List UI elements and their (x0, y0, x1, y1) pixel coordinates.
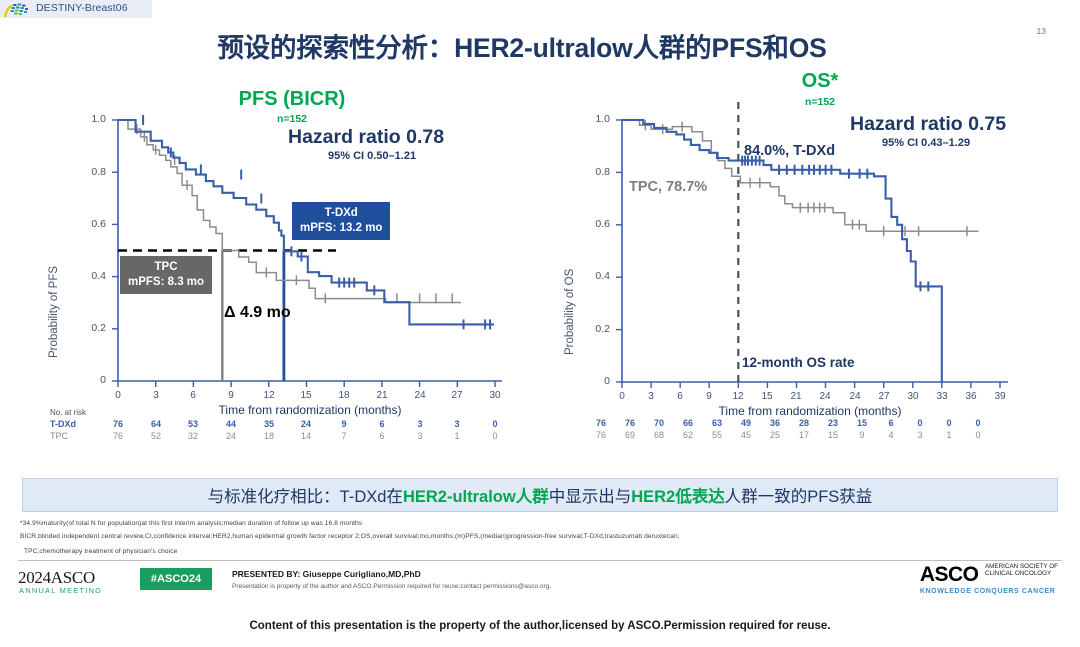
os-risk-tpc-30: 4 (880, 430, 902, 440)
os-ytick-10: 1.0 (580, 113, 610, 125)
pfs-risk-tdxd-21: 6 (371, 419, 393, 429)
asco-society-line2: CLINICAL ONCOLOGY (985, 570, 1051, 577)
os-risk-tpc-18: 25 (764, 430, 786, 440)
os-risk-tpc-3: 69 (619, 430, 641, 440)
os-risk-tdxd-0: 76 (590, 418, 612, 428)
os-risk-tdxd-9: 66 (677, 418, 699, 428)
os-risk-tdxd-36: 0 (938, 418, 960, 428)
os-risk-tpc-12: 55 (706, 430, 728, 440)
pfs-ytick-02: 0.2 (76, 322, 106, 334)
pfs-risk-tpc-30: 0 (484, 431, 506, 441)
asco-society-line1: AMERICAN SOCIETY OF (985, 563, 1058, 570)
os-xtick-36: 36 (959, 391, 983, 402)
footnote-tpc: TPC,chemotherapy treatment of physician'… (24, 548, 177, 555)
os-ytick-08: 0.8 (580, 166, 610, 178)
os-plot (560, 70, 1060, 400)
asco-year-logo: 2024ASCO (18, 568, 95, 588)
pfs-risk-tdxd-24: 3 (409, 419, 431, 429)
os-xtick-21: 24 (813, 391, 837, 402)
os-xtick-39: 39 (988, 391, 1012, 402)
os-risk-tdxd-39: 0 (967, 418, 989, 428)
pfs-xtick-24: 24 (408, 390, 432, 401)
pfs-tpc-callout-line2: mPFS: 8.3 mo (128, 276, 204, 288)
pfs-risk-tdxd-18: 9 (333, 419, 355, 429)
os-tdxd-rate-label: 84.0%, T-DXd (744, 143, 835, 159)
banner-mid: 中显示出与 (549, 483, 632, 507)
pfs-ytick-10: 1.0 (76, 113, 106, 125)
os-risk-tdxd-12: 63 (706, 418, 728, 428)
banner-emphasis-2: HER2低表达 (631, 483, 725, 507)
pfs-xtick-27: 27 (445, 390, 469, 401)
pfs-risk-tpc-21: 6 (371, 431, 393, 441)
pfs-risk-tdxd-27: 3 (446, 419, 468, 429)
fan-arc-logo (4, 1, 32, 18)
conclusion-banner: 与标准化疗相比：T-DXd在HER2-ultralow人群中显示出与HER2低表… (22, 478, 1058, 512)
os-risk-tpc-21: 17 (793, 430, 815, 440)
os-ytick-0: 0 (580, 375, 610, 387)
page-title: 预设的探索性分析：HER2-ultralow人群的PFS和OS (0, 26, 1062, 65)
pfs-xtick-30: 30 (483, 390, 507, 401)
pfs-xtick-0: 0 (106, 390, 130, 401)
os-curve-tpc (622, 120, 979, 231)
os-xtick-18: 21 (784, 391, 808, 402)
pfs-risk-tdxd-3: 64 (145, 419, 167, 429)
pfs-xtick-21: 21 (370, 390, 394, 401)
os-censor-marks-tdxd (742, 156, 928, 292)
pfs-xtick-15: 15 (294, 390, 318, 401)
pfs-at-risk-table: No. at risk T-DXd TPC 76 64 53 44 35 24 … (50, 408, 530, 452)
os-risk-tdxd-18: 36 (764, 418, 786, 428)
pfs-risk-tpc-18: 7 (333, 431, 355, 441)
pfs-tpc-callout: TPC mPFS: 8.3 mo (120, 256, 212, 294)
os-rate-line-label: 12-month OS rate (742, 355, 855, 370)
os-xtick-27: 27 (872, 391, 896, 402)
footnote-abbreviations: BICR,blinded independent central review,… (20, 533, 680, 540)
pfs-tpc-callout-line1: TPC (155, 261, 178, 273)
asco-society-name: AMERICAN SOCIETY OF CLINICAL ONCOLOGY (985, 563, 1058, 577)
banner-prefix: 与标准化疗相比：T-DXd在 (208, 483, 403, 507)
os-risk-tdxd-15: 49 (735, 418, 757, 428)
os-xtick-33: 33 (930, 391, 954, 402)
os-risk-tdxd-30: 6 (880, 418, 902, 428)
os-x-axis-label: Time from randomization (months) (695, 404, 925, 418)
pfs-risk-tdxd-15: 24 (295, 419, 317, 429)
os-risk-tpc-27: 9 (851, 430, 873, 440)
banner-suffix: 人群一致的PFS获益 (725, 483, 873, 507)
pfs-risk-tdxd-0: 76 (107, 419, 129, 429)
pfs-tdxd-callout: T-DXd mPFS: 13.2 mo (292, 202, 390, 240)
os-xtick-0: 0 (610, 391, 634, 402)
pfs-xtick-6: 6 (181, 390, 205, 401)
asco-tagline: KNOWLEDGE CONQUERS CANCER (920, 588, 1058, 595)
os-risk-tpc-9: 62 (677, 430, 699, 440)
os-risk-tpc-6: 68 (648, 430, 670, 440)
permission-notice: Presentation is property of the author a… (232, 583, 551, 590)
pfs-xtick-12: 12 (257, 390, 281, 401)
os-ytick-06: 0.6 (580, 218, 610, 230)
asco-logo: ASCO AMERICAN SOCIETY OF CLINICAL ONCOLO… (920, 563, 1058, 595)
pfs-xtick-9: 9 (219, 390, 243, 401)
os-ytick-04: 0.4 (580, 270, 610, 282)
os-curve-tdxd (622, 120, 942, 382)
pfs-xtick-18: 18 (332, 390, 356, 401)
pfs-risk-tpc-27: 1 (446, 431, 468, 441)
asco-hashtag-badge: #ASCO24 (140, 568, 212, 590)
os-risk-tpc-0: 76 (590, 430, 612, 440)
pfs-tdxd-callout-line1: T-DXd (325, 207, 358, 219)
footnote-divider (18, 560, 1062, 561)
pfs-tdxd-callout-line2: mPFS: 13.2 mo (300, 222, 382, 234)
os-risk-tpc-36: 1 (938, 430, 960, 440)
asco-annual-meeting-label: ANNUAL MEETING (19, 586, 102, 595)
slide-canvas: DESTINY-Breast06 13 预设的探索性分析：HER2-ultral… (0, 0, 1080, 647)
os-risk-tpc-15: 45 (735, 430, 757, 440)
os-xtick-30: 30 (901, 391, 925, 402)
os-risk-tdxd-33: 0 (909, 418, 931, 428)
pfs-panel: PFS (BICR) n=152 Hazard ratio 0.78 95% C… (40, 88, 540, 448)
pfs-xtick-3: 3 (144, 390, 168, 401)
pfs-risk-tpc-9: 24 (220, 431, 242, 441)
os-xtick-6: 6 (668, 391, 692, 402)
os-at-risk-table: 76 76 70 66 63 49 36 28 23 15 6 0 0 0 76… (590, 418, 1050, 450)
pfs-risk-tpc-24: 3 (409, 431, 431, 441)
study-label: DESTINY-Breast06 (36, 2, 128, 14)
os-ytick-02: 0.2 (580, 323, 610, 335)
os-risk-tpc-24: 15 (822, 430, 844, 440)
os-risk-tdxd-24: 23 (822, 418, 844, 428)
pfs-at-risk-caption: No. at risk (50, 408, 86, 417)
pfs-ytick-06: 0.6 (76, 218, 106, 230)
os-panel: OS* n=152 Hazard ratio 0.75 95% CI 0.43–… (560, 70, 1060, 450)
os-xtick-3: 3 (639, 391, 663, 402)
pfs-risk-tpc-15: 14 (295, 431, 317, 441)
pfs-ytick-08: 0.8 (76, 166, 106, 178)
pfs-ytick-04: 0.4 (76, 270, 106, 282)
os-xtick-15: 15 (755, 391, 779, 402)
pfs-risk-tdxd-6: 53 (182, 419, 204, 429)
pfs-risk-tpc-6: 32 (182, 431, 204, 441)
os-xtick-12: 12 (726, 391, 750, 402)
os-tpc-rate-label: TPC, 78.7% (629, 179, 707, 195)
presented-by: PRESENTED BY: Giuseppe Curigliano,MD,PhD (232, 569, 421, 579)
os-risk-tdxd-21: 28 (793, 418, 815, 428)
os-risk-tpc-39: 0 (967, 430, 989, 440)
pfs-delta-annotation: Δ 4.9 mo (224, 304, 291, 322)
pfs-ytick-0: 0 (76, 374, 106, 386)
pfs-risk-tpc-12: 18 (258, 431, 280, 441)
pfs-risk-tpc-3: 52 (145, 431, 167, 441)
bottom-caption: Content of this presentation is the prop… (0, 620, 1080, 632)
pfs-at-risk-row-label-tdxd: T-DXd (50, 419, 76, 429)
os-risk-tdxd-3: 76 (619, 418, 641, 428)
banner-emphasis-1: HER2-ultralow人群 (403, 483, 549, 507)
os-risk-tdxd-6: 70 (648, 418, 670, 428)
footnote-maturity: *34.9%maturity(of total N for population… (20, 520, 362, 527)
os-xtick-24: 24 (843, 391, 867, 402)
pfs-risk-tdxd-12: 35 (258, 419, 280, 429)
pfs-at-risk-row-label-tpc: TPC (50, 431, 68, 441)
asco-wordmark: ASCO (920, 563, 979, 587)
os-xtick-9: 9 (697, 391, 721, 402)
pfs-risk-tdxd-30: 0 (484, 419, 506, 429)
os-risk-tdxd-27: 15 (851, 418, 873, 428)
os-risk-tpc-33: 3 (909, 430, 931, 440)
pfs-risk-tdxd-9: 44 (220, 419, 242, 429)
pfs-risk-tpc-0: 76 (107, 431, 129, 441)
pfs-plot (40, 88, 540, 398)
